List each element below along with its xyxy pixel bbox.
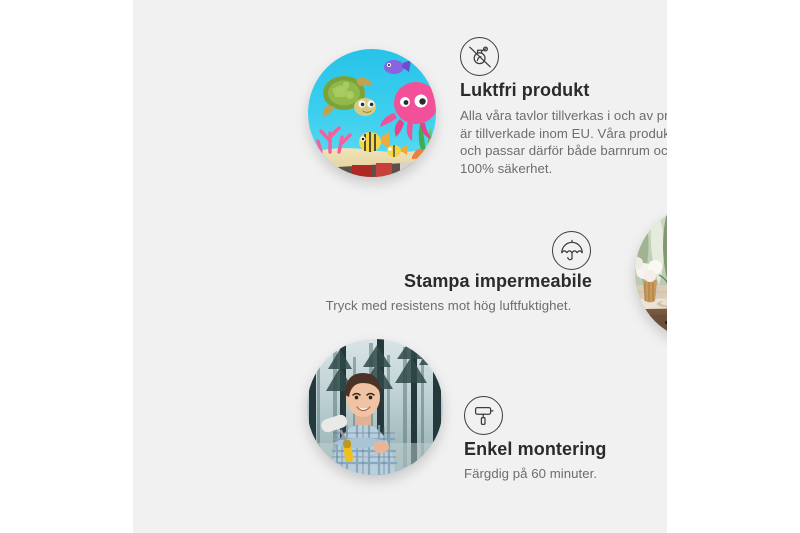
underwater-scene-artwork [308,49,436,177]
feature-odorless-description: Alla våra tavlor tillverkas i och av pro… [460,107,667,177]
paint-roller-icon [464,396,503,435]
content-panel: Luktfri produkt Alla våra tavlor tillver… [133,0,667,533]
feature-mounting-description: Färgdig på 60 minuter. [464,465,667,483]
umbrella-icon [552,231,591,270]
feature-mounting-title: Enkel montering [464,437,667,461]
feature-odorless-text: Luktfri produkt Alla våra tavlor tillver… [460,78,667,177]
feature-waterproof-description: Tryck med resistens mot hög luftfuktighe… [303,297,594,315]
feature-waterproof-title: Stampa impermeabile [303,269,594,293]
bathroom-wallpaper-artwork [635,205,667,341]
underwater-scene-photo [308,49,436,177]
feature-odorless-title: Luktfri produkt [460,78,667,102]
woman-with-paint-roller-artwork [307,339,443,475]
bathroom-wallpaper-photo [635,205,667,341]
woman-with-paint-roller-photo [307,339,443,475]
no-fragrance-spray-icon [460,37,499,76]
feature-waterproof-text: Stampa impermeabile Tryck med resistens … [303,269,594,315]
feature-mounting-text: Enkel montering Färgdig på 60 minuter. [464,437,667,483]
infographic-page: Luktfri produkt Alla våra tavlor tillver… [0,0,800,533]
